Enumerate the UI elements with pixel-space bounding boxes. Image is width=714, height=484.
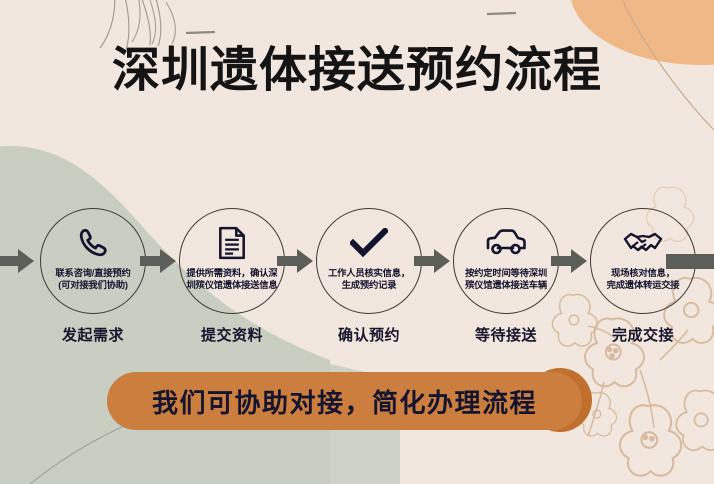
car-icon [485,221,527,265]
step-description-5: 现场核对信息， 完成遗体转运交接 [591,267,695,292]
process-flow: 联系咨询/直接预约 (可对接我们协助) 发起需求 [0,208,714,358]
step-circle-1: 联系咨询/直接预约 (可对接我们协助) [40,208,146,314]
step-description-2: 提供所需资料，确认深 圳殡仪馆遗体接送信息 [180,267,284,292]
flow-step-1[interactable]: 联系咨询/直接预约 (可对接我们协助) 发起需求 [28,208,158,358]
dash-mark-right [487,13,516,14]
step-description-1: 联系咨询/直接预约 (可对接我们协助) [41,267,145,292]
step-circle-4: 按约定时间等待深圳 殡仪馆遗体接送车辆 [453,208,559,314]
step-circle-2: 提供所需资料，确认深 圳殡仪馆遗体接送信息 [179,208,285,314]
leaf-line-art-top-2 [132,0,175,44]
flow-arrow-trailing [666,254,714,269]
cta-banner[interactable]: 我们可协助对接，简化办理流程 [107,372,582,430]
flow-arrow-4-5 [551,248,587,274]
flow-arrow-2-3 [277,248,313,274]
phone-icon [76,221,110,265]
flow-step-4[interactable]: 按约定时间等待深圳 殡仪馆遗体接送车辆 等待接送 [441,208,571,358]
leaf-line-art-top [100,0,161,50]
dash-mark-left [186,32,215,33]
cta-banner-text: 我们可协助对接，简化办理流程 [152,383,537,420]
step-label-2: 提交资料 [167,324,297,345]
step-label-5: 完成交接 [578,324,708,345]
infographic-poster: 深圳遗体接送预约流程 联系咨询/直接预约 (可对接我们协助) 发 [0,0,714,484]
document-icon [216,221,248,265]
handshake-icon [622,221,664,265]
flow-step-3[interactable]: 工作人员核实信息， 生成预约记录 确认预约 [304,208,434,358]
checkmark-icon [350,221,388,265]
page-title: 深圳遗体接送预约流程 [0,44,714,98]
flow-arrow-3-4 [414,248,450,274]
step-label-4: 等待接送 [441,324,571,345]
flow-step-5[interactable]: 现场核对信息， 完成遗体转运交接 完成交接 [578,208,708,358]
step-label-3: 确认预约 [304,324,434,345]
flow-step-2[interactable]: 提供所需资料，确认深 圳殡仪馆遗体接送信息 提交资料 [167,208,297,358]
step-description-3: 工作人员核实信息， 生成预约记录 [317,267,421,292]
step-description-4: 按约定时间等待深圳 殡仪馆遗体接送车辆 [454,267,558,292]
step-label-1: 发起需求 [28,324,158,345]
step-circle-3: 工作人员核实信息， 生成预约记录 [316,208,422,314]
flow-arrow-leading [0,248,34,274]
flow-arrow-1-2 [140,248,176,274]
